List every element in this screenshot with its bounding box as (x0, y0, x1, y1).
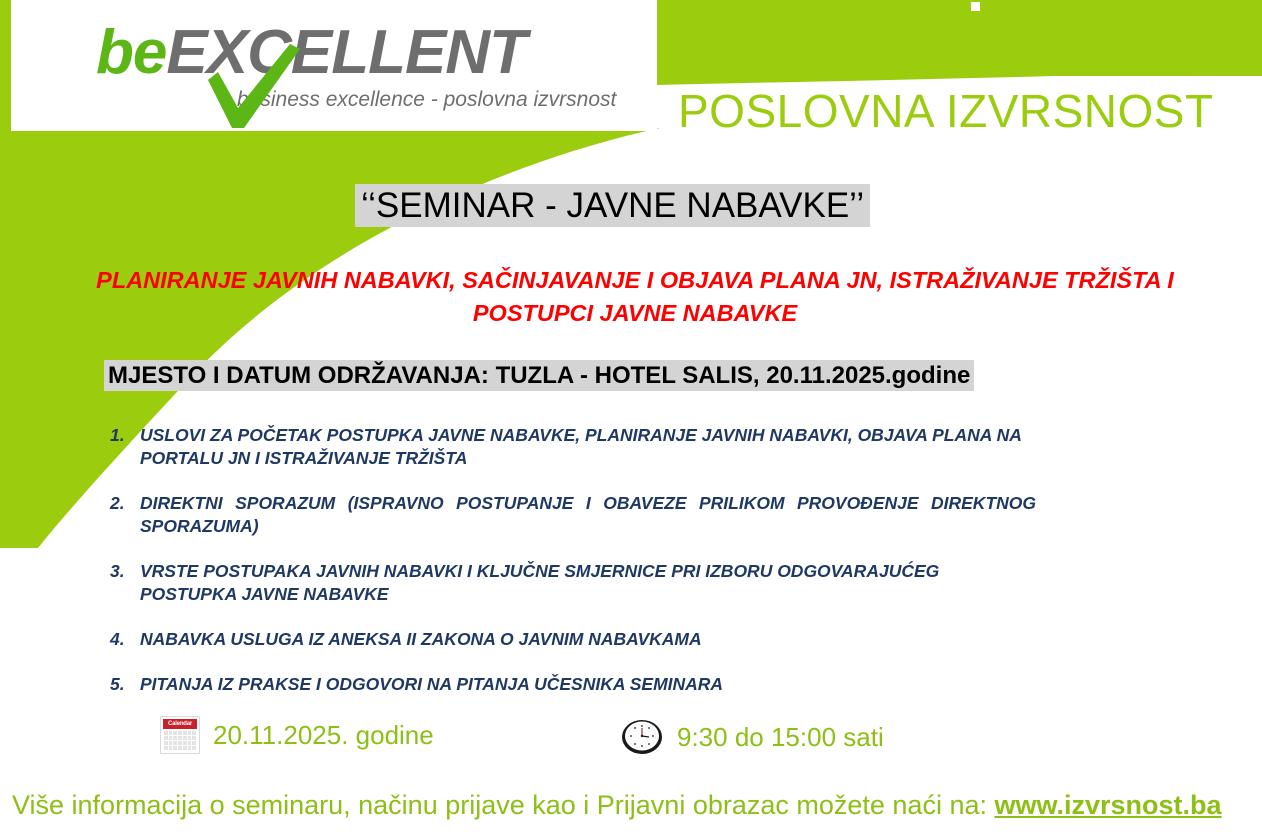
agenda-item-text: VRSTE POSTUPAKA JAVNIH NABAVKI I KLJUČNE… (140, 560, 1036, 606)
place-and-date: MJESTO I DATUM ODRŽAVANJA: TUZLA - HOTEL… (104, 362, 974, 390)
agenda-item-text: DIREKTNI SPORAZUM (ISPRAVNO POSTUPANJE I… (140, 492, 1036, 538)
agenda-item: 3. VRSTE POSTUPAKA JAVNIH NABAVKI I KLJU… (106, 560, 1036, 606)
calendar-icon-header: Calendar (163, 719, 197, 729)
header-green-curve (657, 55, 1262, 85)
event-time-label: 9:30 do 15:00 sati (677, 722, 884, 753)
logo-be-text: be (96, 18, 166, 87)
seminar-title: ‘‘SEMINAR - JAVNE NABAVKE’’ (355, 186, 870, 226)
subtitle-line-2: POSTUPCI JAVNE NABAVKE (20, 297, 1250, 330)
event-time-block: 9:30 do 15:00 sati (620, 718, 884, 756)
logo-container: beEXCELLENT business excellence - poslov… (11, 0, 657, 131)
footer-info: Više informacija o seminaru, načinu prij… (12, 790, 1252, 821)
website-link[interactable]: www.izvrsnost.ba (994, 790, 1221, 820)
page-header-title: POSLOVNA IZVRSNOST (678, 84, 1214, 138)
agenda-item-text: PITANJA IZ PRAKSE I ODGOVORI NA PITANJA … (140, 673, 1036, 696)
agenda-item-text: USLOVI ZA POČETAK POSTUPKA JAVNE NABAVKE… (140, 424, 1036, 470)
event-date-label: 20.11.2025. godine (213, 720, 434, 751)
calendar-icon-grid (164, 731, 196, 750)
brand-logo: beEXCELLENT business excellence - poslov… (96, 22, 616, 122)
agenda-item-number: 3. (106, 560, 140, 583)
logo-wordmark: beEXCELLENT (96, 22, 526, 84)
seminar-title-text: ‘‘SEMINAR - JAVNE NABAVKE’’ (355, 184, 870, 227)
event-date-block: Calendar 20.11.2025. godine (160, 716, 434, 754)
calendar-icon: Calendar (160, 716, 200, 754)
place-and-date-text: MJESTO I DATUM ODRŽAVANJA: TUZLA - HOTEL… (104, 360, 974, 391)
agenda-item: 4. NABAVKA USLUGA IZ ANEKSA II ZAKONA O … (106, 628, 1036, 651)
agenda-item-number: 5. (106, 673, 140, 696)
check-mark-icon (204, 42, 304, 130)
clock-icon (620, 718, 664, 756)
agenda-item: 1. USLOVI ZA POČETAK POSTUPKA JAVNE NABA… (106, 424, 1036, 470)
agenda-list: 1. USLOVI ZA POČETAK POSTUPKA JAVNE NABA… (106, 424, 1036, 718)
left-green-strip (0, 0, 11, 131)
poster-canvas: beEXCELLENT business excellence - poslov… (0, 0, 1262, 835)
subtitle-line-1: PLANIRANJE JAVNIH NABAVKI, SAČINJAVANJE … (20, 264, 1250, 297)
agenda-item: 2. DIREKTNI SPORAZUM (ISPRAVNO POSTUPANJ… (106, 492, 1036, 538)
event-info-row: Calendar 20.11.2025. godine (160, 716, 920, 766)
seminar-subtitle: PLANIRANJE JAVNIH NABAVKI, SAČINJAVANJE … (20, 264, 1250, 330)
footer-text: Više informacija o seminaru, načinu prij… (12, 790, 994, 820)
agenda-item-text: NABAVKA USLUGA IZ ANEKSA II ZAKONA O JAV… (140, 628, 1036, 651)
agenda-item: 5. PITANJA IZ PRAKSE I ODGOVORI NA PITAN… (106, 673, 1036, 696)
agenda-item-number: 1. (106, 424, 140, 447)
top-white-marker (971, 2, 980, 11)
agenda-item-number: 2. (106, 492, 140, 515)
agenda-item-number: 4. (106, 628, 140, 651)
